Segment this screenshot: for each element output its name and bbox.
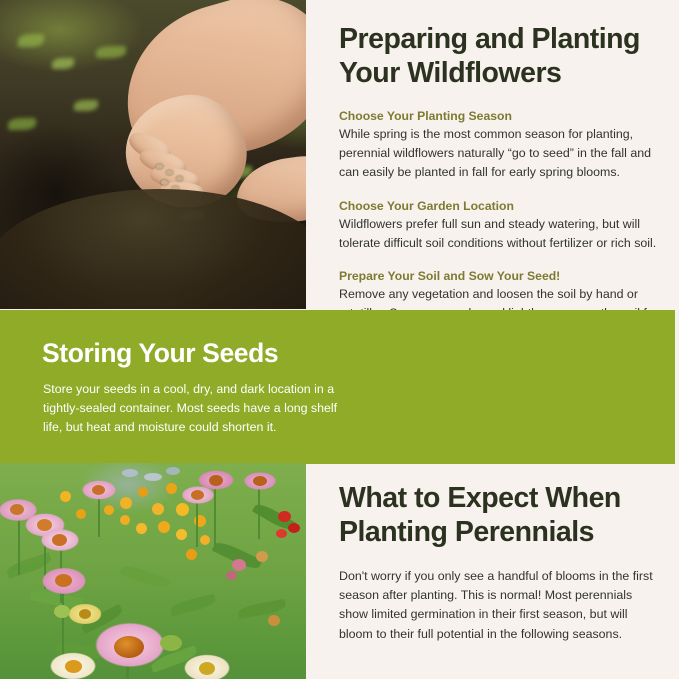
article-what-to-expect: What to Expect When Planting Perennials … [339,481,661,644]
white-daisy [178,651,236,679]
coneflower [34,525,86,555]
section-title-what-to-expect: What to Expect When Planting Perennials [339,481,661,549]
section-garden-location: Choose Your Garden Location Wildflowers … [339,197,661,253]
wildflower-meadow-photo [0,463,306,679]
infographic-page: Preparing and Planting Your Wildflowers … [0,0,679,679]
page-title: Preparing and Planting Your Wildflowers [339,22,661,90]
coneflower [238,469,282,493]
soil-mound [0,189,306,309]
section-garden-location-body: Wildflowers prefer full sun and steady w… [339,215,661,253]
storing-your-seeds-band: Storing Your Seeds Store your seeds in a… [0,310,675,464]
section-planting-season-body: While spring is the most common season f… [339,125,661,183]
coneflower [192,467,240,493]
page-title-line-1: Preparing and Planting [339,23,640,55]
yellow-daisy [64,601,106,627]
section-prepare-soil-subhead: Prepare Your Soil and Sow Your Seed! [339,267,661,285]
soil-sowing-photo [0,0,306,309]
section-title-line-1: What to Expect When [339,482,621,514]
what-to-expect-body: Don't worry if you only see a handful of… [339,567,661,644]
section-planting-season-subhead: Choose Your Planting Season [339,107,661,125]
article-preparing-and-planting: Preparing and Planting Your Wildflowers … [339,22,661,343]
page-title-line-2: Your Wildflowers [339,57,561,89]
white-daisy [44,649,102,679]
storing-your-seeds-body: Store your seeds in a cool, dry, and dar… [43,380,343,437]
storing-your-seeds-title: Storing Your Seeds [42,338,278,369]
coneflower [76,477,122,503]
section-planting-season: Choose Your Planting Season While spring… [339,107,661,183]
coneflower [34,563,94,599]
section-title-line-2: Planting Perennials [339,516,594,548]
section-garden-location-subhead: Choose Your Garden Location [339,197,661,215]
